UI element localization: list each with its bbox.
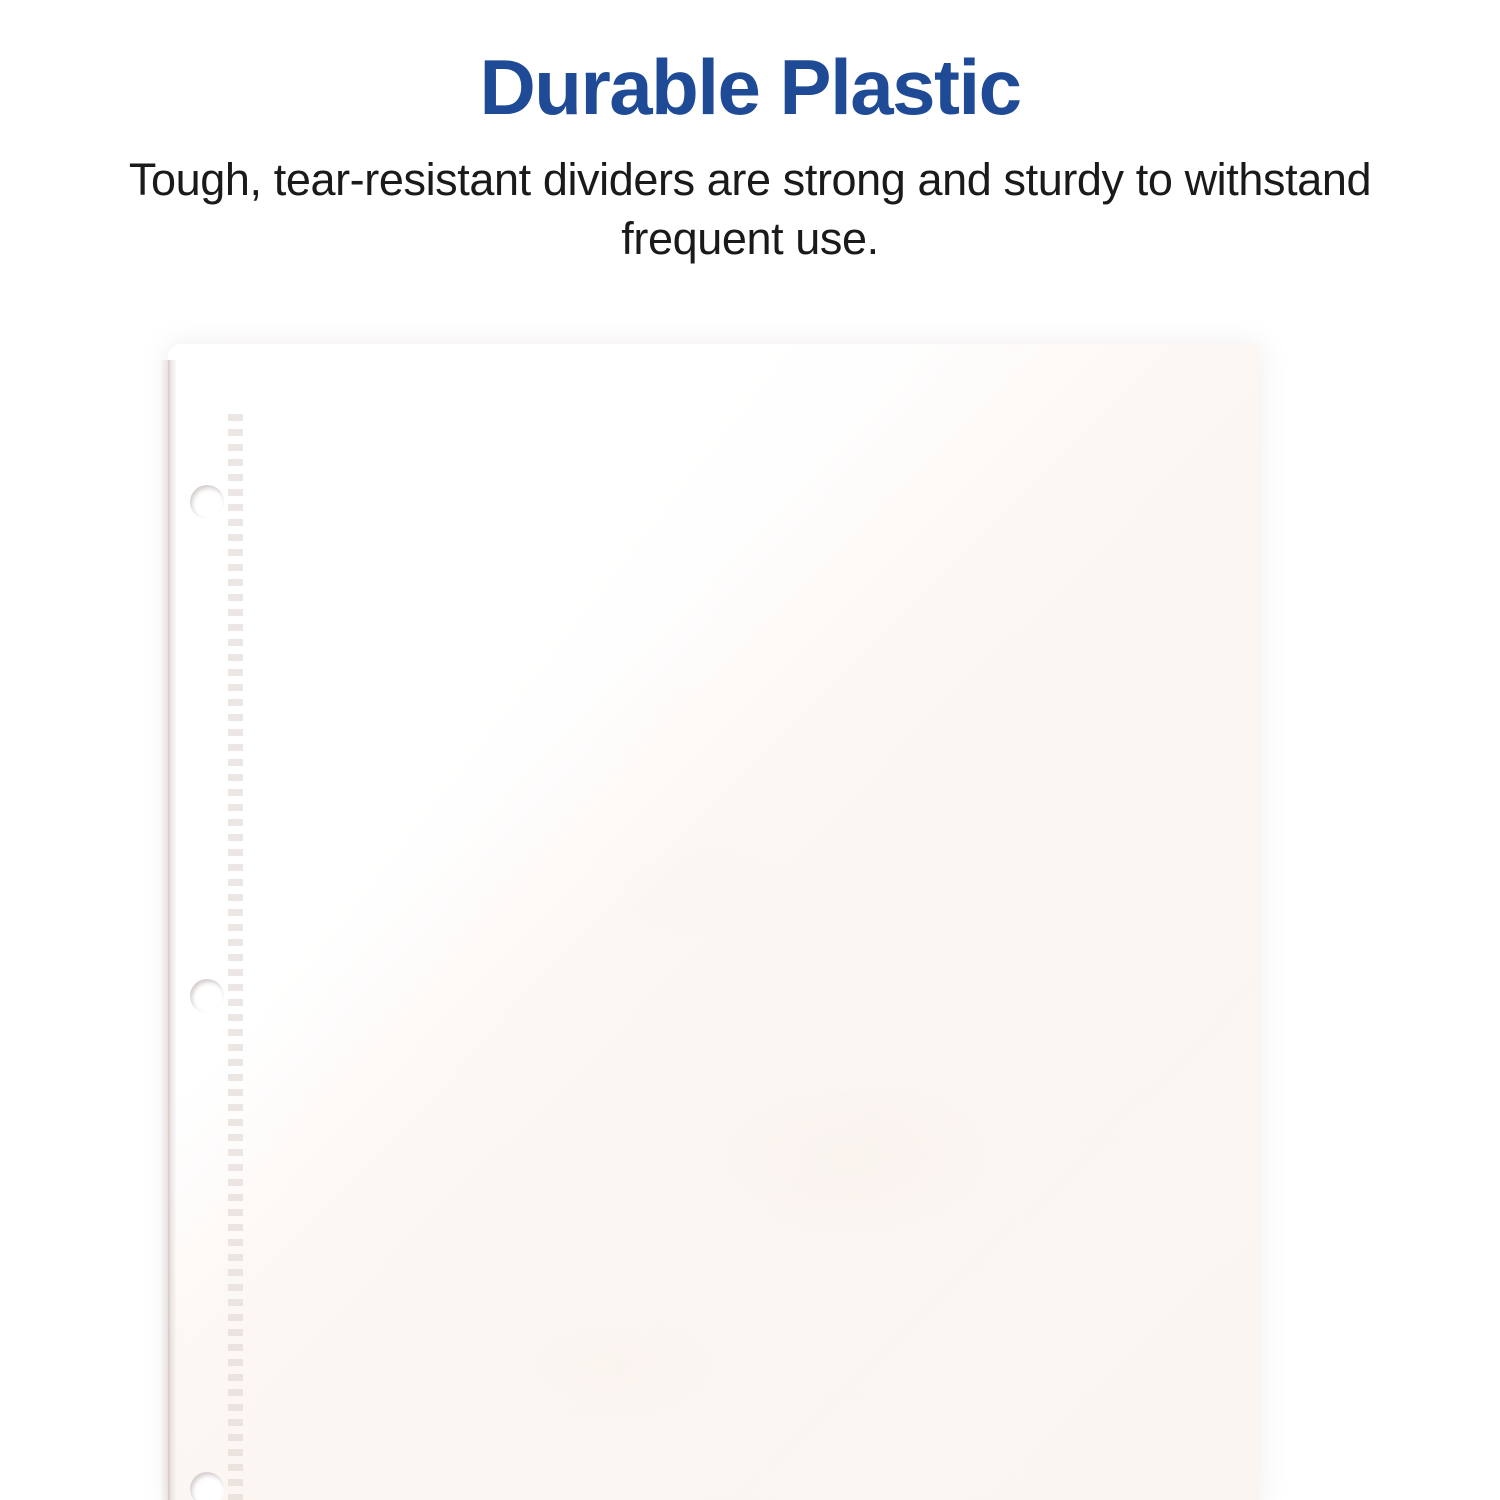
binder-hole bbox=[190, 979, 224, 1013]
page-title: Durable Plastic bbox=[0, 48, 1500, 128]
reinforced-perforation-strip bbox=[228, 414, 243, 1500]
divider-sheet bbox=[168, 344, 1260, 1500]
binder-hole bbox=[190, 1472, 224, 1500]
marketing-header: Durable Plastic Tough, tear-resistant di… bbox=[0, 0, 1500, 269]
sheet-spine-edge bbox=[168, 360, 177, 1500]
product-photo: CalendarProjectsTo DoNotesBudgetStrategy… bbox=[0, 322, 1500, 1500]
binder-hole bbox=[190, 485, 224, 519]
page-subtitle: Tough, tear-resistant dividers are stron… bbox=[90, 150, 1410, 270]
